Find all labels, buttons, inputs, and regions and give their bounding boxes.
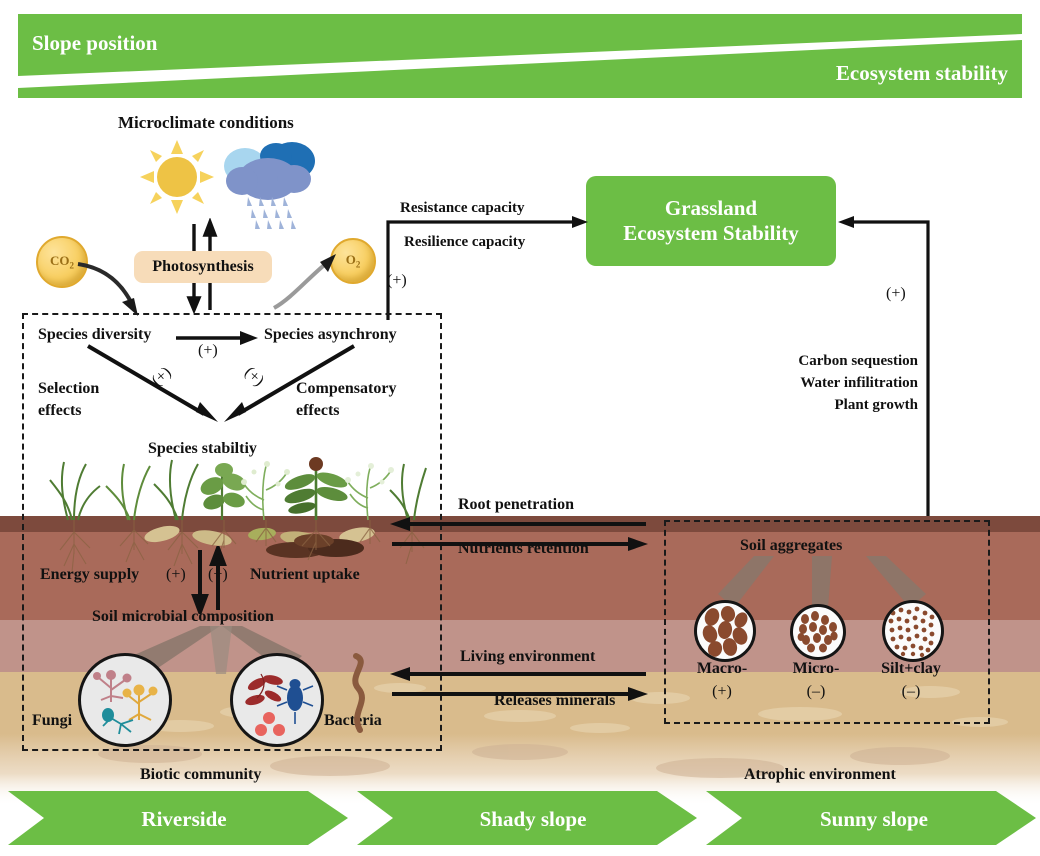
living-environment-label: Living environment	[460, 648, 595, 666]
resistance-capacity-label: Resistance capacity	[400, 200, 525, 217]
energy-supply-label: Energy supply	[40, 566, 139, 584]
soil-aggregates-title: Soil aggregates	[740, 537, 842, 555]
nutrients-retention-label: Nutrients retention	[458, 540, 589, 558]
earthworm-icon	[342, 652, 382, 739]
slope-position-ribbons: Riverside Shady slope Sunny slope	[8, 791, 1036, 845]
rain-cloud-icon	[218, 139, 316, 236]
photosynthesis-pill: Photosynthesis	[134, 251, 272, 283]
o2-subscript: 2	[356, 260, 361, 270]
root-penetration-label: Root penetration	[458, 496, 574, 514]
compensatory-effects-label: Compensatory effects	[296, 378, 396, 421]
bacteria-magnifier-circle	[230, 653, 324, 747]
function-plant-growth: Plant growth	[766, 395, 918, 417]
ribbon-shady-slope-label: Shady slope	[480, 807, 587, 831]
ecosystem-function-list: Carbon sequestion Water infilitration Pl…	[766, 351, 918, 416]
ribbon-riverside-label: Riverside	[141, 807, 226, 831]
flagellated-bacterium	[277, 679, 313, 724]
biotic-community-caption: Biotic community	[140, 766, 261, 784]
banner-right-label: Ecosystem stability	[836, 61, 1009, 85]
fungi-hyphae-pink	[99, 678, 125, 702]
fungi-magnifier-circle	[78, 653, 172, 747]
micro-aggregate-label: Micro- (–)	[770, 660, 862, 701]
o2-label: O	[346, 252, 356, 267]
asynchrony-to-o2-arrow	[270, 246, 346, 319]
left-positive-sign: (+)	[387, 272, 407, 290]
compensatory-effects-line-1: Compensatory	[296, 378, 396, 400]
nutrient-uptake-label: Nutrient uptake	[250, 566, 360, 584]
soil-microbial-composition-label: Soil microbial composition	[92, 608, 274, 626]
atrophic-environment-caption: Atrophic environment	[744, 766, 896, 784]
grassland-ecosystem-stability-box[interactable]: Grassland Ecosystem Stability	[586, 176, 836, 266]
photosynthesis-label: Photosynthesis	[152, 258, 253, 276]
microclimate-title: Microclimate conditions	[118, 113, 294, 133]
silt-clay-aggregate-label: Silt+clay (–)	[862, 660, 960, 701]
resilience-capacity-label: Resilience capacity	[404, 234, 525, 251]
stability-line-1: Grassland	[665, 196, 757, 220]
nutrient-sign: (+)	[208, 566, 228, 584]
species-asynchrony-label: Species asynchrony	[264, 326, 397, 344]
co2-subscript: 2	[70, 261, 75, 271]
fungi-label: Fungi	[32, 712, 72, 730]
releases-minerals-label: Releases minerals	[494, 692, 615, 710]
compensatory-effects-line-2: effects	[296, 400, 396, 422]
species-stability-label: Species stabiltiy	[148, 440, 257, 458]
fungi-hyphae-yellow	[129, 694, 151, 720]
silt-clay-aggregate-sign: (–)	[862, 683, 960, 701]
energy-sign: (+)	[166, 566, 186, 584]
resistance-resilience-arrow	[384, 206, 594, 327]
species-diversity-label: Species diversity	[38, 326, 151, 344]
ribbon-sunny-slope-label: Sunny slope	[820, 807, 928, 831]
cocci	[255, 712, 285, 736]
top-banner: Slope position Ecosystem stability	[18, 14, 1022, 98]
co2-label: CO	[50, 253, 70, 268]
function-carbon-sequestion: Carbon sequestion	[766, 351, 918, 373]
macro-aggregate-label: Macro- (+)	[676, 660, 768, 701]
micro-aggregate-name: Micro-	[770, 660, 862, 678]
banner-left-label: Slope position	[32, 31, 158, 55]
silt-clay-aggregate-circle	[882, 600, 944, 662]
bacilli	[244, 674, 284, 708]
sun-icon	[140, 140, 214, 219]
selection-effects-label: Selection effects	[38, 378, 99, 421]
macro-aggregate-circle	[694, 600, 756, 662]
function-water-infiltration: Water infilitration	[766, 373, 918, 395]
macro-aggregate-name: Macro-	[676, 660, 768, 678]
diagram-canvas: Slope position Ecosystem stability Micro…	[0, 0, 1040, 856]
selection-effects-line-1: Selection	[38, 378, 99, 400]
micro-aggregate-circle	[790, 604, 846, 660]
micro-aggregate-sign: (–)	[770, 683, 862, 701]
stability-line-2: Ecosystem Stability	[623, 221, 799, 245]
selection-effects-line-2: effects	[38, 400, 99, 422]
macro-aggregate-sign: (+)	[676, 683, 768, 701]
silt-clay-aggregate-name: Silt+clay	[862, 660, 960, 678]
selection-effect-arrow	[86, 344, 226, 437]
right-positive-sign: (+)	[886, 285, 906, 303]
